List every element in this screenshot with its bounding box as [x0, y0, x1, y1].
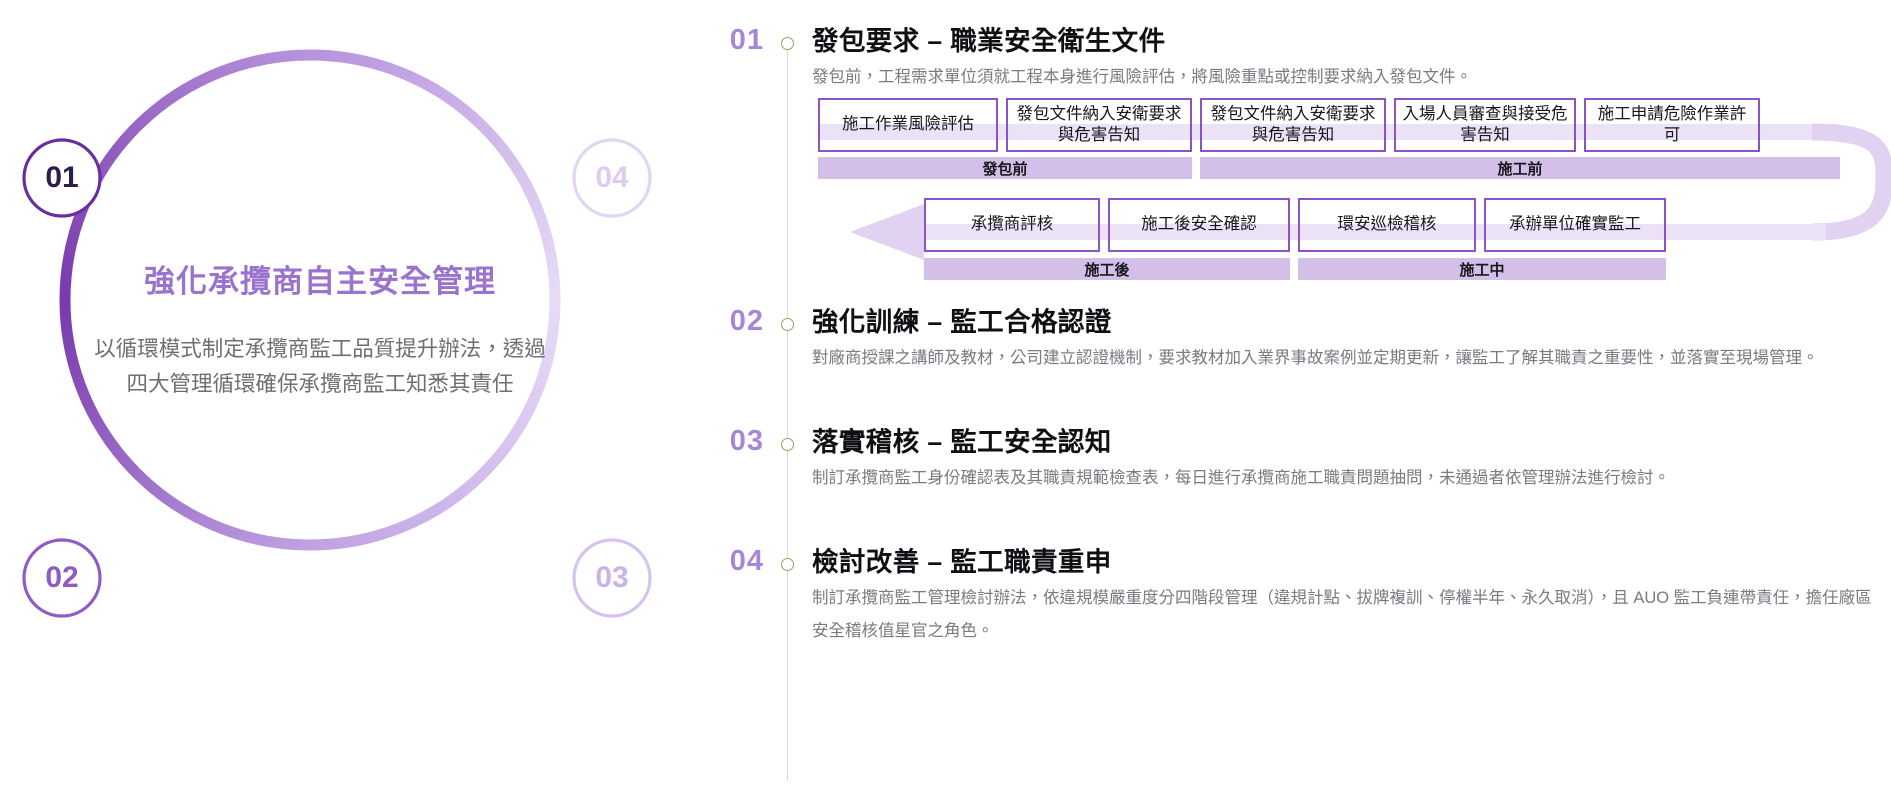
sections-panel: 01 發包要求 – 職業安全衛生文件 發包前，工程需求單位須就工程本身進行風險評…: [700, 0, 1891, 799]
cycle-center-text: 強化承攬商自主安全管理 以循環模式制定承攬商監工品質提升辦法，透過四大管理循環確…: [60, 262, 580, 402]
section-01-number: 01: [700, 24, 764, 57]
flow-box-r1-5[interactable]: 施工申請危險作業許可: [1584, 98, 1760, 152]
section-02-bullet-icon: [781, 318, 794, 331]
slide-root: 01 02 03 04 強化承攬商自主安全管理 以循環模式制定承攬商監工品質提升…: [0, 0, 1891, 799]
section-04-number: 04: [700, 545, 764, 578]
cycle-node-01[interactable]: 01: [24, 140, 100, 216]
flow-stage-r1-1: 發包前: [818, 157, 1192, 179]
section-01-body: 發包前，工程需求單位須就工程本身進行風險評估，將風險重點或控制要求納入發包文件。: [812, 61, 1872, 94]
flow-box-r2-4[interactable]: 承辦單位確實監工: [1484, 198, 1666, 252]
section-03-heading: 落實稽核 – 監工安全認知: [812, 420, 1112, 459]
section-03-number: 03: [700, 425, 764, 458]
section-01-bullet-icon: [781, 37, 794, 50]
section-02-body: 對廠商授課之講師及教材，公司建立認證機制，要求教材加入業界事故案例並定期更新，讓…: [812, 342, 1872, 375]
cycle-node-04[interactable]: 04: [574, 140, 650, 216]
flow-box-r1-3[interactable]: 發包文件納入安衛要求與危害告知: [1200, 98, 1386, 152]
section-04-bullet-icon: [781, 558, 794, 571]
flow-box-r1-4[interactable]: 入場人員審查與接受危害告知: [1394, 98, 1576, 152]
flow-stage-r1-2: 施工前: [1200, 157, 1840, 179]
cycle-diagram: 01 02 03 04 強化承攬商自主安全管理 以循環模式制定承攬商監工品質提升…: [0, 0, 680, 799]
process-flow-diagram: 施工作業風險評估 發包文件納入安衛要求與危害告知 發包文件納入安衛要求與危害告知…: [812, 92, 1891, 282]
section-04-body: 制訂承攬商監工管理檢討辦法，依違規模嚴重度分四階段管理（違規計點、拔牌複訓、停權…: [812, 582, 1872, 648]
flow-box-r1-1[interactable]: 施工作業風險評估: [818, 98, 998, 152]
flow-box-r2-3[interactable]: 環安巡檢稽核: [1298, 198, 1476, 252]
flow-box-r2-2[interactable]: 施工後安全確認: [1108, 198, 1290, 252]
cycle-description: 以循環模式制定承攬商監工品質提升辦法，透過四大管理循環確保承攬商監工知悉其責任: [60, 332, 580, 402]
section-03-bullet-icon: [781, 438, 794, 451]
section-04-heading: 檢討改善 – 監工職責重申: [812, 540, 1112, 579]
flow-box-r2-1[interactable]: 承攬商評核: [924, 198, 1100, 252]
cycle-node-02[interactable]: 02: [24, 540, 100, 616]
cycle-node-03[interactable]: 03: [574, 540, 650, 616]
flow-stage-r2-1: 施工後: [924, 258, 1290, 280]
section-02-heading: 強化訓練 – 監工合格認證: [812, 300, 1112, 339]
cycle-title: 強化承攬商自主安全管理: [60, 262, 580, 302]
flow-box-r1-2[interactable]: 發包文件納入安衛要求與危害告知: [1006, 98, 1192, 152]
section-01-heading: 發包要求 – 職業安全衛生文件: [812, 19, 1165, 58]
section-03-body: 制訂承攬商監工身份確認表及其職責規範檢查表，每日進行承攬商施工職責問題抽問，未通…: [812, 462, 1872, 495]
section-02-number: 02: [700, 305, 764, 338]
timeline-rail: [787, 44, 788, 781]
flow-stage-r2-2: 施工中: [1298, 258, 1666, 280]
